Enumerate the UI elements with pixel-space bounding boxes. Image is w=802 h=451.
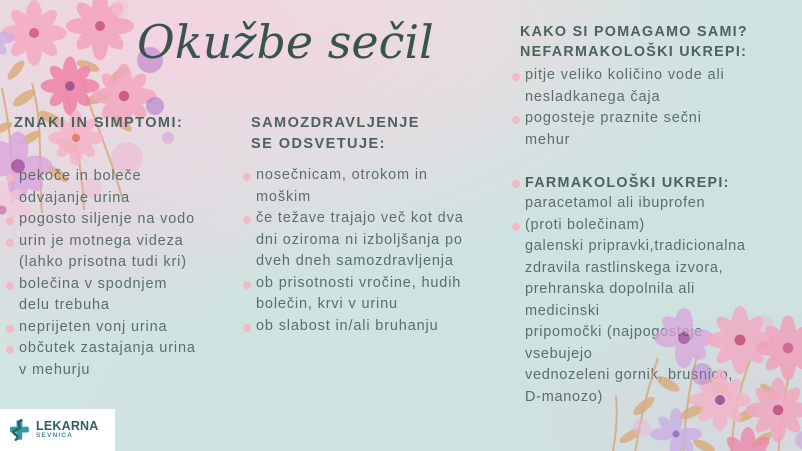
- list-item: pitje veliko količino vode ali nesladkan…: [512, 65, 800, 108]
- list-item: pogosteje praznite sečni mehur: [512, 108, 800, 151]
- list-item: prehranska dopolnila ali: [512, 279, 800, 301]
- list-item: pekoče in boleče odvajanje urina: [6, 166, 238, 209]
- middle-column-heading: SAMOZDRAVLJENJE SE ODSVETUJE:: [251, 113, 505, 155]
- logo-name: LEKARNA: [36, 420, 99, 433]
- left-column-heading: ZNAKI IN SIMPTOMI:: [14, 113, 238, 134]
- list-item: neprijeten vonj urina: [6, 317, 238, 339]
- list-item: če težave trajajo več kot dva dni ozirom…: [243, 208, 505, 273]
- page-title: Okužbe sečil: [133, 8, 433, 78]
- list-item: pogosto siljenje na vodo: [6, 209, 238, 231]
- list-item: D-manozo): [512, 387, 800, 409]
- column-self-help-measures: KAKO SI POMAGAMO SAMI? NEFARMAKOLOŠKI UK…: [512, 22, 800, 408]
- list-item: nosečnicam, otrokom in moškim: [243, 165, 505, 208]
- list-item: bolečina v spodnjem delu trebuha: [6, 274, 238, 317]
- poster-canvas: Okužbe sečil ZNAKI IN SIMPTOMI: pekoče i…: [0, 0, 802, 451]
- column-signs-and-symptoms: ZNAKI IN SIMPTOMI: pekoče in boleče odva…: [6, 113, 238, 381]
- list-item: (proti bolečinam): [512, 215, 800, 237]
- logo-subtitle: SEVNICA: [36, 433, 99, 440]
- column-self-treatment-not-advised: SAMOZDRAVLJENJE SE ODSVETUJE: nosečnicam…: [243, 113, 505, 337]
- pharmacological-list: paracetamol ali ibuprofen (proti bolečin…: [512, 193, 800, 408]
- list-item: vednozeleni gornik, brusnico,: [512, 365, 800, 387]
- list-item: občutek zastajanja urina v mehurju: [6, 338, 238, 381]
- pharmacological-section: FARMAKOLOŠKI UKREPI: paracetamol ali ibu…: [512, 173, 800, 408]
- self-treatment-list: nosečnicam, otrokom in moškim če težave …: [243, 165, 505, 337]
- list-item: medicinski: [512, 301, 800, 323]
- list-item: paracetamol ali ibuprofen: [512, 193, 800, 215]
- list-item: ob prisotnosti vročine, hudih bolečin, k…: [243, 273, 505, 316]
- pharmacy-cross-snake-icon: [6, 417, 32, 443]
- list-item: ob slabost in/ali bruhanju: [243, 316, 505, 338]
- list-item: pripomočki (najpogosteje: [512, 322, 800, 344]
- title-text: Okužbe sečil: [137, 15, 433, 69]
- list-item: vsebujejo: [512, 344, 800, 366]
- logo[interactable]: LEKARNA SEVNICA: [0, 409, 115, 451]
- list-item: urin je motnega videza (lahko prisotna t…: [6, 231, 238, 274]
- right-column-heading: KAKO SI POMAGAMO SAMI? NEFARMAKOLOŠKI UK…: [520, 22, 800, 62]
- signs-and-symptoms-list: pekoče in boleče odvajanje urina pogosto…: [6, 166, 238, 381]
- nonpharmacological-list: pitje veliko količino vode ali nesladkan…: [512, 65, 800, 151]
- list-item: galenski pripravki,tradicionalna: [512, 236, 800, 258]
- logo-text: LEKARNA SEVNICA: [36, 420, 99, 440]
- pharmacological-heading: FARMAKOLOŠKI UKREPI:: [512, 173, 800, 193]
- list-item: zdravila rastlinskega izvora,: [512, 258, 800, 280]
